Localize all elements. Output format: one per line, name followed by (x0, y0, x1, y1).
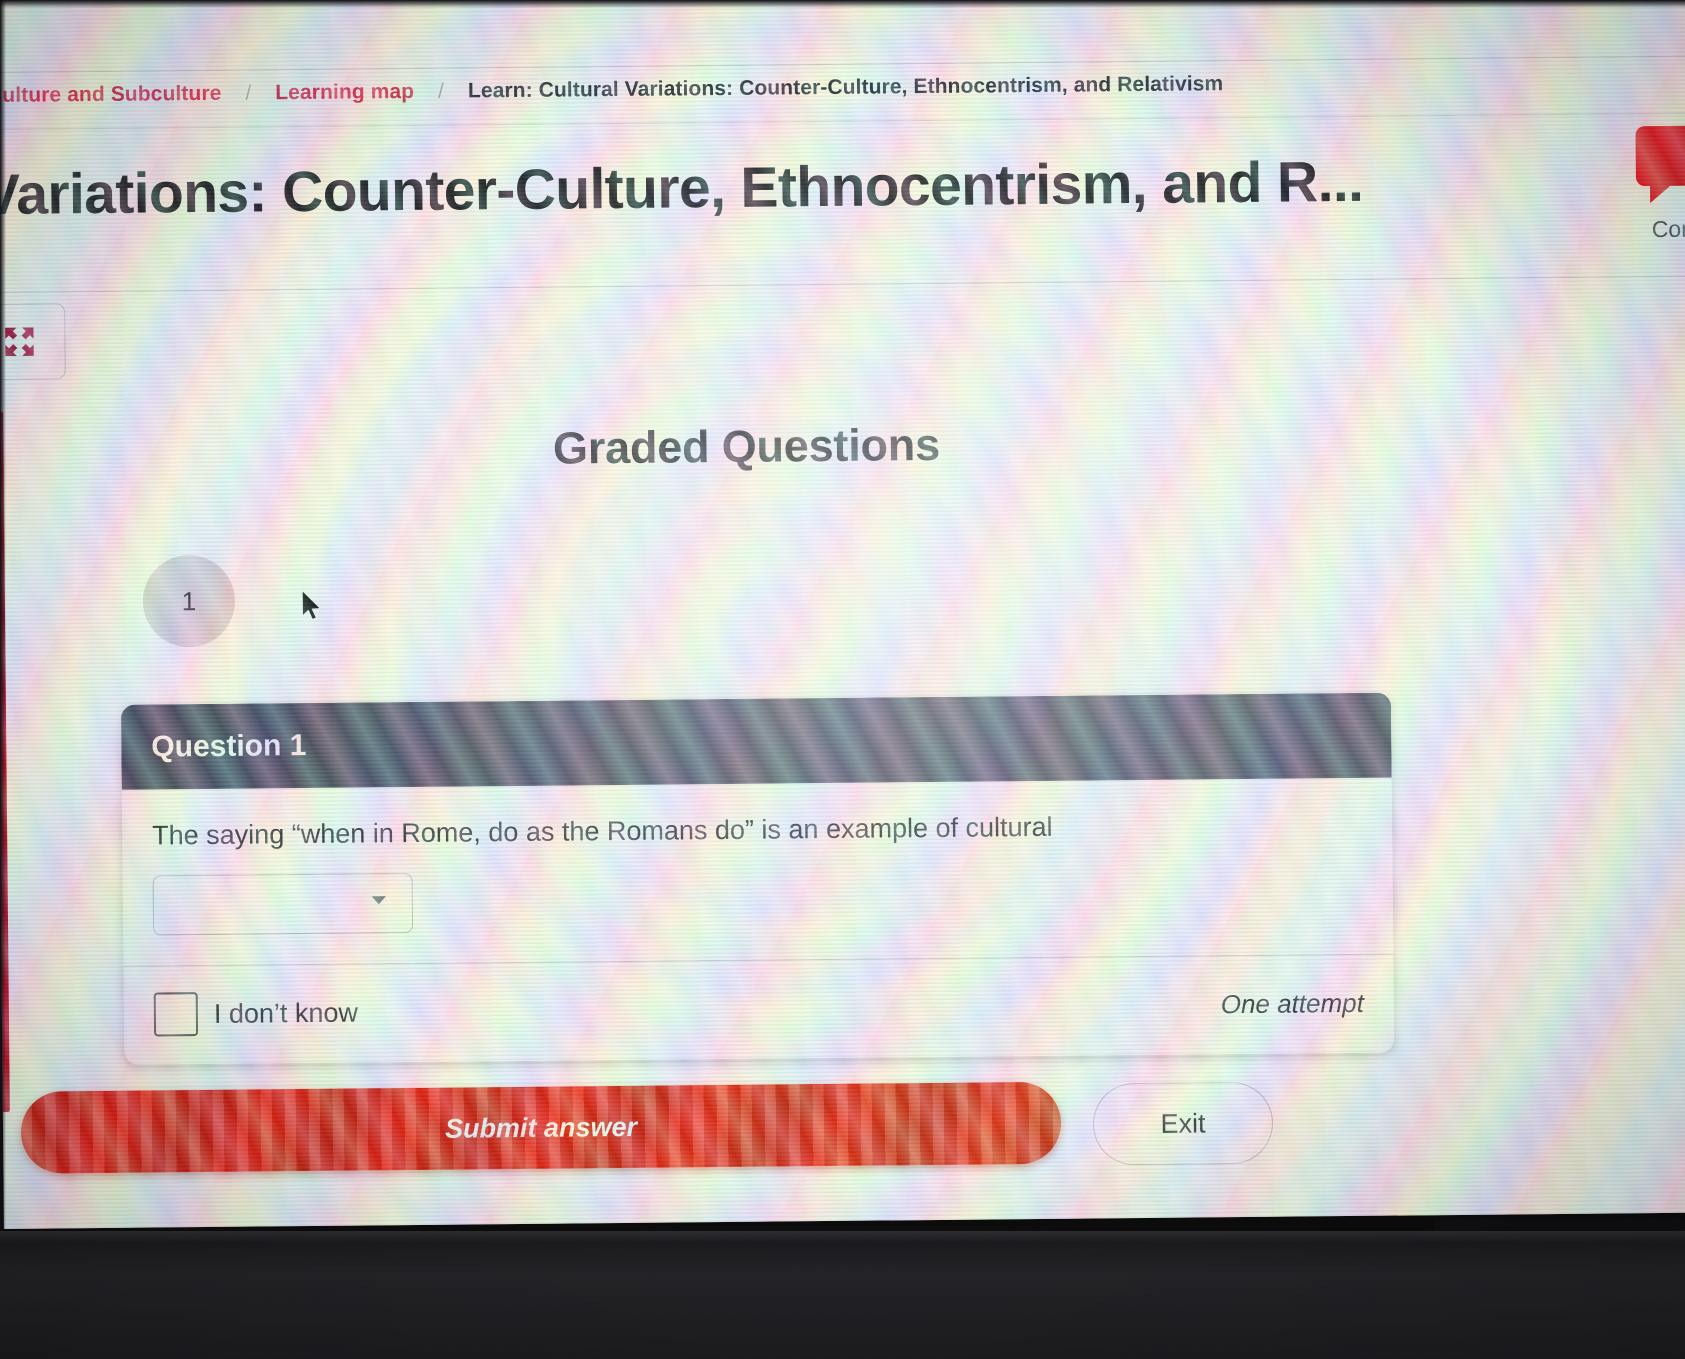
bezel-sheen (0, 1231, 1685, 1243)
breadcrumb-divider-top (0, 56, 1685, 73)
breadcrumb-bar: Culture and Subculture / Learning map / … (0, 56, 1685, 130)
question-card-footer: I don’t know One attempt (123, 955, 1394, 1065)
submit-answer-label: Submit answer (445, 1111, 637, 1144)
breadcrumb: Culture and Subculture / Learning map / … (0, 72, 1223, 108)
contact-label: Conta (1598, 215, 1685, 244)
exit-label: Exit (1160, 1108, 1205, 1139)
question-card-body: The saying “when in Rome, do as the Roma… (122, 778, 1394, 968)
dont-know-label: I don’t know (214, 997, 358, 1029)
title-row: Variations: Counter-Culture, Ethnocentri… (0, 146, 1685, 282)
breadcrumb-item-learning-map[interactable]: Learning map (275, 80, 414, 105)
breadcrumb-separator: / (438, 80, 444, 104)
question-card-header: Question 1 (121, 693, 1392, 790)
page-title: Variations: Counter-Culture, Ethnocentri… (0, 149, 1364, 228)
breadcrumb-divider-bottom (0, 113, 1685, 130)
fullscreen-expand-icon (2, 325, 36, 359)
section-title: Graded Questions (0, 414, 1497, 480)
content-toolbar (0, 288, 1685, 380)
question-index-badge[interactable]: 1 (142, 555, 235, 648)
question-text: The saying “when in Rome, do as the Roma… (152, 806, 1362, 854)
breadcrumb-separator: / (245, 82, 251, 106)
monitor-bezel (0, 1231, 1685, 1359)
exit-button[interactable]: Exit (1093, 1082, 1274, 1166)
submit-answer-button[interactable]: Submit answer (21, 1082, 1062, 1174)
dont-know-checkbox[interactable] (154, 993, 198, 1037)
chevron-down-icon (372, 897, 386, 905)
breadcrumb-item-course[interactable]: Culture and Subculture (0, 82, 222, 108)
question-card: Question 1 The saying “when in Rome, do … (121, 693, 1394, 1066)
chat-bubble-icon (1635, 125, 1685, 186)
dont-know-option[interactable]: I don’t know (154, 991, 359, 1037)
question-card-title: Question 1 (151, 729, 306, 764)
quiz-page: Culture and Subculture / Learning map / … (0, 0, 1685, 1229)
monitor-screen: Culture and Subculture / Learning map / … (0, 0, 1685, 1229)
breadcrumb-item-current: Learn: Cultural Variations: Counter-Cult… (468, 73, 1224, 104)
answer-select[interactable] (153, 873, 414, 935)
contact-widget[interactable]: Conta (1597, 125, 1685, 244)
fullscreen-button[interactable] (0, 303, 66, 380)
attempt-note: One attempt (1221, 988, 1364, 1020)
mouse-cursor-icon (301, 589, 323, 621)
screen-left-edge (0, 0, 6, 1359)
screen-top-edge (0, 0, 1685, 8)
screen-photo: Culture and Subculture / Learning map / … (0, 0, 1685, 1359)
